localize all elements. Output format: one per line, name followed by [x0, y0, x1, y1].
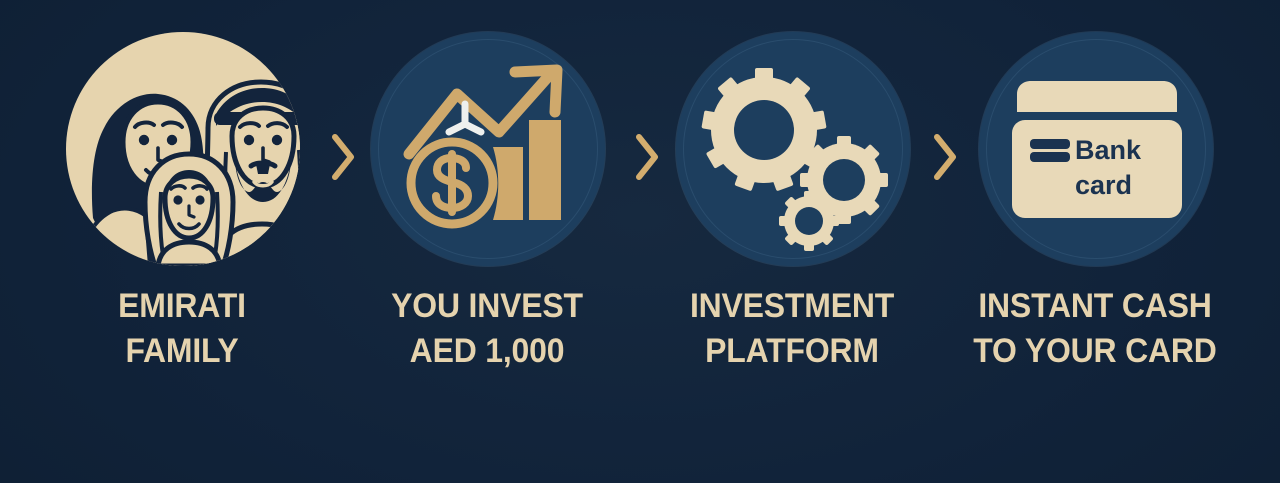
chevron-right-icon-3	[932, 133, 958, 181]
step-instant-cash: Bank card INSTANT CASH TO YOUR CARD	[970, 22, 1220, 442]
step-1-circle	[66, 32, 300, 266]
gears-icon	[676, 32, 910, 266]
step-emirati-family: EMIRATI FAMILY	[57, 22, 307, 442]
infographic-canvas: EMIRATI FAMILY	[0, 0, 1280, 483]
bank-card-icon: Bank card	[979, 32, 1213, 266]
chevron-right-icon-1	[330, 133, 356, 181]
step-3-label: INVESTMENT PLATFORM	[663, 284, 921, 374]
step-4-circle: Bank card	[979, 32, 1213, 266]
step-you-invest: YOU INVEST AED 1,000	[362, 22, 612, 442]
bank-card-text-line2: card	[1075, 170, 1132, 200]
step-2-circle	[371, 32, 605, 266]
step-3-circle	[676, 32, 910, 266]
step-4-label-line1: INSTANT CASH	[966, 284, 1224, 329]
step-3-label-line2: PLATFORM	[663, 329, 921, 374]
bank-card-text-line1: Bank	[1075, 135, 1142, 165]
step-4-label-line2: TO YOUR CARD	[966, 329, 1224, 374]
step-2-label-line2: AED 1,000	[358, 329, 616, 374]
investment-growth-chart-icon	[371, 32, 605, 266]
process-flow: EMIRATI FAMILY	[0, 0, 1280, 483]
step-1-label-line2: FAMILY	[53, 329, 311, 374]
chevron-right-icon-2	[634, 133, 660, 181]
step-2-label-line1: YOU INVEST	[358, 284, 616, 329]
step-1-label-line1: EMIRATI	[53, 284, 311, 329]
step-1-label: EMIRATI FAMILY	[53, 284, 311, 374]
step-3-label-line1: INVESTMENT	[663, 284, 921, 329]
emirati-family-icon	[66, 32, 300, 266]
step-4-label: INSTANT CASH TO YOUR CARD	[966, 284, 1224, 374]
step-2-label: YOU INVEST AED 1,000	[358, 284, 616, 374]
step-investment-platform: INVESTMENT PLATFORM	[667, 22, 917, 442]
